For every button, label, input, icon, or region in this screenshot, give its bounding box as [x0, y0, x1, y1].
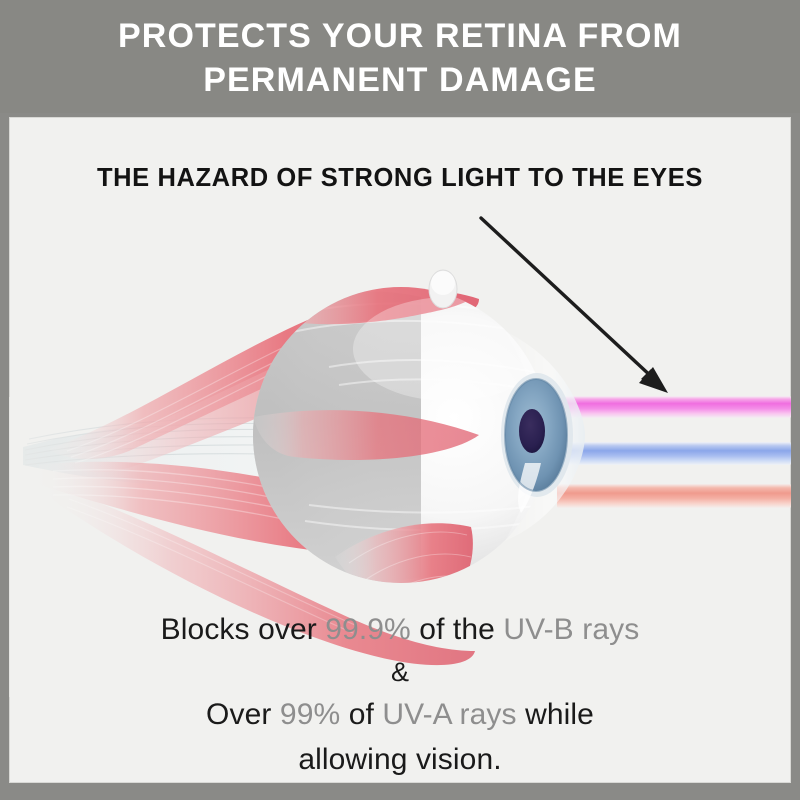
footer-line-2: Over 99% of UV-A rays while — [9, 692, 791, 737]
footer-ampersand: & — [9, 652, 791, 692]
banner-title-line1: PROTECTS YOUR RETINA FROM — [118, 14, 682, 58]
content-card: THE HAZARD OF STRONG LIGHT TO THE EYES — [9, 117, 791, 783]
top-banner: PROTECTS YOUR RETINA FROM PERMANENT DAMA… — [0, 0, 800, 113]
footer-l2-e: while — [517, 698, 594, 731]
banner-title-line2: PERMANENT DAMAGE — [203, 58, 597, 102]
footer-line-1: Blocks over 99.9% of the UV-B rays — [9, 607, 791, 652]
pupil — [519, 409, 545, 453]
footer-l1-percent: 99.9% — [325, 613, 411, 646]
footer-l2-c: of — [340, 698, 382, 731]
footer-line-3: allowing vision. — [9, 737, 791, 782]
footer-l2-uva: UV-A rays — [382, 698, 516, 731]
footer-l2-a: Over — [206, 698, 280, 731]
footer-l1-a: Blocks over — [161, 613, 326, 646]
footer-l2-percent: 99% — [280, 698, 340, 731]
muscle-tendon-nub — [429, 270, 457, 308]
poster-root: PROTECTS YOUR RETINA FROM PERMANENT DAMA… — [0, 0, 800, 800]
footer-l1-uvb: UV-B rays — [503, 613, 639, 646]
footer-l1-c: of the — [411, 613, 504, 646]
footer-text-block: Blocks over 99.9% of the UV-B rays & Ove… — [9, 607, 791, 782]
